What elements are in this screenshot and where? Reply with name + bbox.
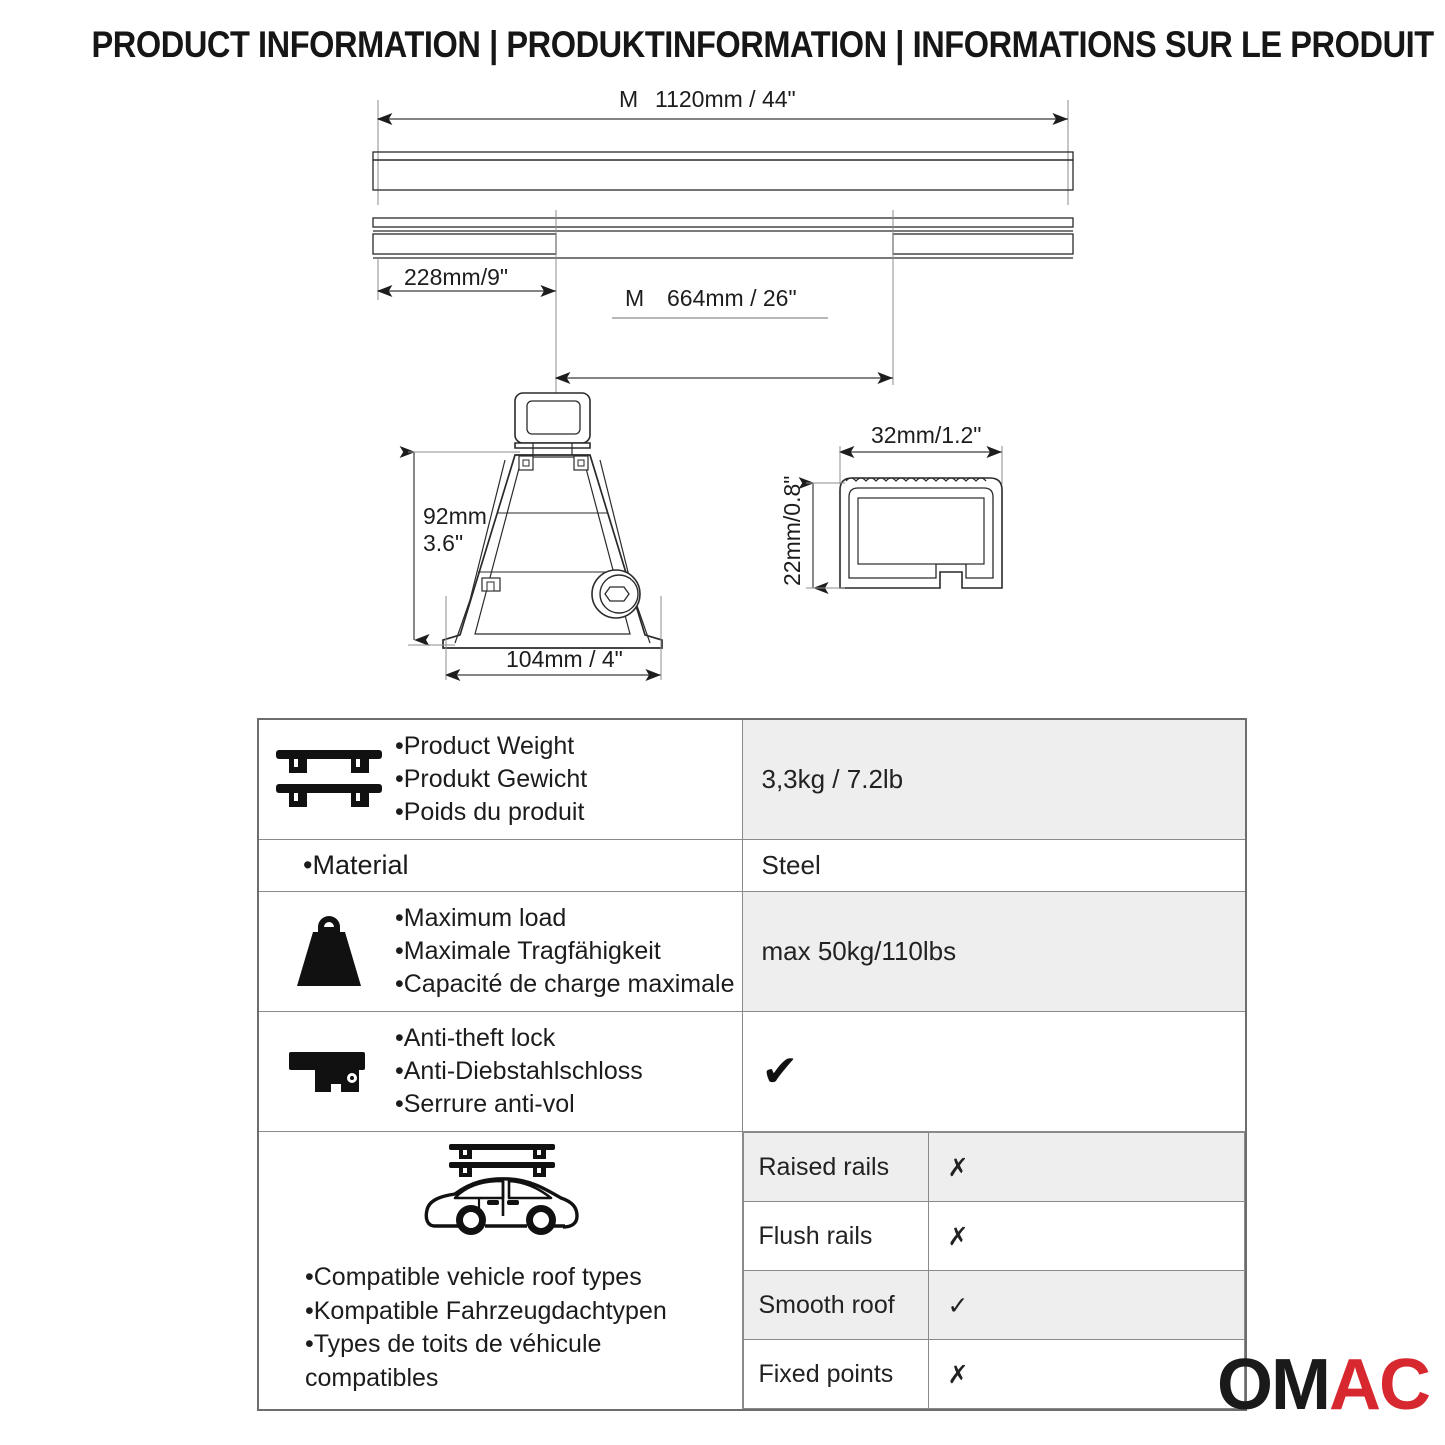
spec-label-lines: •Anti-theft lock •Anti-Diebstahlschloss … — [395, 1022, 643, 1121]
rooftype-options-table: Raised rails ✗ Flush rails ✗ Smooth roof… — [743, 1132, 1245, 1409]
span-prefix: M — [625, 285, 644, 311]
rooftype-label-lines: •Compatible vehicle roof types •Kompatib… — [267, 1261, 734, 1395]
foot-offset-label: 228mm/9" — [404, 264, 508, 290]
span-label: 664mm / 26" — [667, 285, 797, 311]
logo-text-red: AC — [1329, 1345, 1429, 1425]
spec-label-cell-material: •Material — [258, 840, 743, 892]
rooftype-options-cell: Raised rails ✗ Flush rails ✗ Smooth roof… — [743, 1132, 1246, 1411]
rooftype-mark-cross-icon: ✗ — [929, 1202, 1245, 1271]
rooftype-label-line: •Compatible vehicle roof types — [305, 1261, 734, 1295]
rooftype-name: Flush rails — [744, 1202, 929, 1271]
table-row: •Compatible vehicle roof types •Kompatib… — [258, 1132, 1246, 1411]
spec-label-cell-maxload: •Maximum load •Maximale Tragfähigkeit •C… — [258, 892, 743, 1012]
spec-label-cell-lock: •Anti-theft lock •Anti-Diebstahlschloss … — [258, 1012, 743, 1132]
rooftype-label-line: •Kompatible Fahrzeugdachtypen — [305, 1295, 734, 1329]
rooftype-option-row: Fixed points ✗ — [744, 1340, 1245, 1409]
spec-label-line: •Produkt Gewicht — [395, 763, 587, 796]
spec-value-maxload: max 50kg/110lbs — [743, 892, 1246, 1012]
spec-label-line: •Capacité de charge maximale — [395, 968, 734, 1001]
spec-label-line: •Poids du produit — [395, 796, 587, 829]
profile-width-label: 32mm/1.2" — [871, 422, 981, 448]
rooftype-option-row: Raised rails ✗ — [744, 1133, 1245, 1202]
spec-label-line: •Maximum load — [395, 902, 734, 935]
rooftype-name: Raised rails — [744, 1133, 929, 1202]
product-spec-table: •Product Weight •Produkt Gewicht •Poids … — [257, 718, 1247, 1411]
spec-label-line: •Maximale Tragfähigkeit — [395, 935, 734, 968]
rooftype-mark-check-icon: ✓ — [929, 1271, 1245, 1340]
table-row: •Product Weight •Produkt Gewicht •Poids … — [258, 719, 1246, 840]
spec-value-lock: ✔ — [743, 1012, 1246, 1132]
technical-drawing: M 1120mm / 44" 228mm/9" M 664mm / 26" — [0, 0, 1445, 710]
weight-icon — [269, 910, 389, 994]
spec-label-line: •Anti-theft lock — [395, 1022, 643, 1055]
check-icon: ✔ — [761, 1046, 798, 1097]
rooftype-option-row: Smooth roof ✓ — [744, 1271, 1245, 1340]
bar-length-prefix: M — [619, 86, 638, 112]
spec-label-cell-weight: •Product Weight •Produkt Gewicht •Poids … — [258, 719, 743, 840]
spec-label-line: •Anti-Diebstahlschloss — [395, 1055, 643, 1088]
rooftype-mark-cross-icon: ✗ — [929, 1133, 1245, 1202]
profile-height-label: 22mm/0.8" — [779, 476, 805, 586]
spec-label-lines: •Maximum load •Maximale Tragfähigkeit •C… — [395, 902, 734, 1001]
foot-height-mm-label: 92mm — [423, 503, 487, 529]
car-with-rack-icon — [415, 1233, 587, 1250]
rooftype-option-row: Flush rails ✗ — [744, 1202, 1245, 1271]
foot-width-label: 104mm / 4" — [506, 646, 623, 672]
table-row: •Maximum load •Maximale Tragfähigkeit •C… — [258, 892, 1246, 1012]
spec-label-cell-rooftypes: •Compatible vehicle roof types •Kompatib… — [258, 1132, 743, 1411]
foot-height-in-label: 3.6" — [423, 530, 463, 556]
rooftype-label-line: •Types de toits de véhicule — [305, 1328, 734, 1362]
lock-icon — [269, 1040, 389, 1104]
roof-bars-icon — [269, 744, 389, 816]
rooftype-name: Smooth roof — [744, 1271, 929, 1340]
spec-label-line: •Material — [269, 850, 734, 881]
spec-label-lines: •Product Weight •Produkt Gewicht •Poids … — [395, 730, 587, 829]
rooftype-mark-cross-icon: ✗ — [929, 1340, 1245, 1409]
spec-label-line: •Serrure anti-vol — [395, 1088, 643, 1121]
table-row: •Material Steel — [258, 840, 1246, 892]
omac-logo: OMAC — [1217, 1349, 1429, 1421]
spec-label-line: •Product Weight — [395, 730, 587, 763]
logo-text-dark: OM — [1217, 1345, 1329, 1425]
rooftype-name: Fixed points — [744, 1340, 929, 1409]
spec-value-material: Steel — [743, 840, 1246, 892]
bar-length-label: 1120mm / 44" — [655, 86, 796, 112]
spec-value-weight: 3,3kg / 7.2lb — [743, 719, 1246, 840]
rooftype-label-line: compatibles — [305, 1362, 734, 1396]
table-row: •Anti-theft lock •Anti-Diebstahlschloss … — [258, 1012, 1246, 1132]
